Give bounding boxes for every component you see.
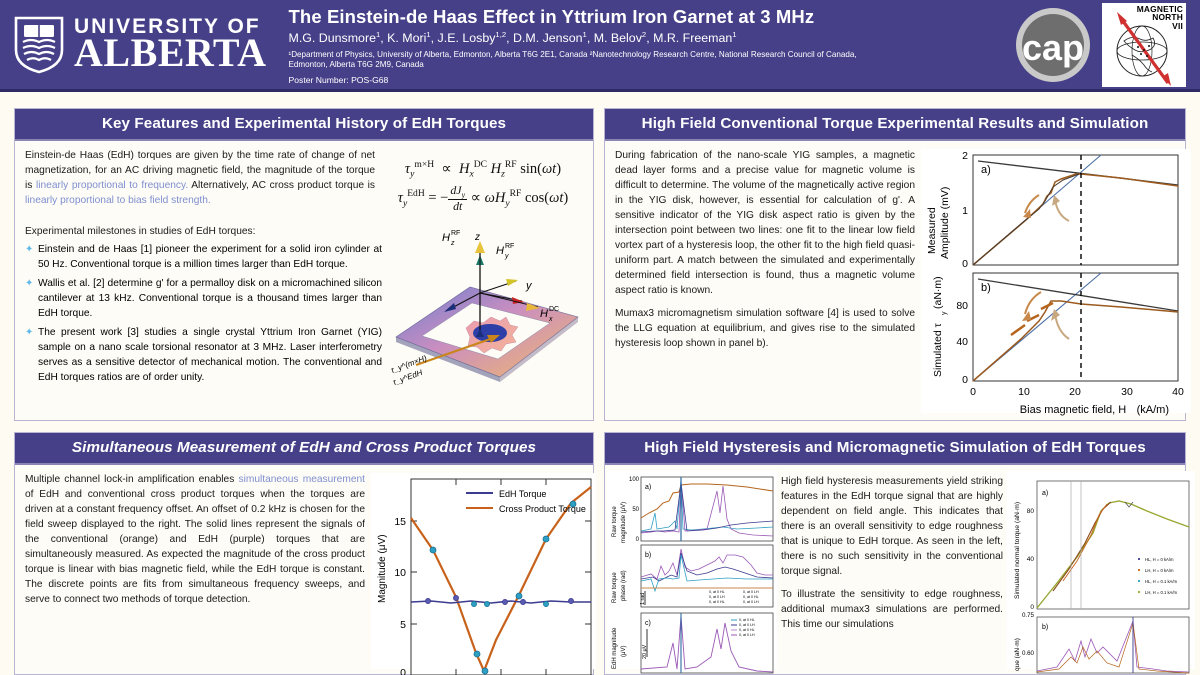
- right-ytick-075: 0.75: [1022, 612, 1035, 619]
- high-field-text: During fabrication of the nano-scale YIG…: [615, 149, 915, 413]
- ytick-0: 0: [400, 667, 406, 675]
- ylabel-b: Simulated τ: [932, 322, 944, 377]
- legend-edh-torque: EdH Torque: [499, 489, 546, 499]
- diamond-bullet-icon: ✦: [25, 277, 33, 292]
- milestone-post: times larger than EdH torque.: [212, 259, 348, 270]
- label-z-axis: z: [474, 232, 480, 243]
- simultaneous-highlight: simultaneous measurement: [239, 474, 366, 485]
- hysteresis-text: High field hysteresis measurements yield…: [781, 471, 1003, 669]
- scalebar-1rad: 1 rad: [640, 593, 646, 605]
- ylabel-a-line2: Amplitude (mV): [939, 187, 951, 259]
- ytick-a-1: 1: [962, 205, 968, 217]
- intro-highlight-1: linearly proportional to frequency.: [36, 180, 188, 191]
- list-item: ✦ Wallis et al. [2] determine g' for a p…: [25, 277, 382, 322]
- diamond-bullet-icon: ✦: [25, 326, 33, 341]
- panel-hysteresis-title: High Field Hysteresis and Micromagnetic …: [605, 433, 1185, 465]
- svg-text:DC: DC: [549, 306, 559, 313]
- subpanel-b-label: b): [981, 282, 991, 294]
- panel-key-features: Key Features and Experimental History of…: [14, 108, 594, 421]
- milestone-highlight: unity: [181, 372, 202, 383]
- high-field-chart: a) 2 1 0 Measured Amplitude (mV): [921, 149, 1191, 421]
- poster-number: Poster Number: POS-G68: [289, 75, 1004, 85]
- hysteresis-left-chart: a) 100 50 0 Raw torque magnitude (μV) b)…: [607, 471, 777, 675]
- legend-hl-0: HL, H = 0 kA/m: [1145, 557, 1174, 562]
- simultaneous-part2: of EdH and conventional cross product to…: [25, 489, 365, 605]
- left-subpanel-b-label: b): [645, 552, 651, 559]
- right-ytick-0: 0: [1030, 604, 1034, 611]
- right-subpanel-a-label: a): [1042, 490, 1048, 497]
- intro-part2: Alternatively, AC cross product torque i…: [188, 180, 375, 191]
- label-hx-dc: H: [540, 308, 548, 320]
- svg-text:0, at 0 HL: 0, at 0 HL: [739, 618, 755, 622]
- shield-icon: [14, 16, 64, 74]
- device-schematic-diagram: H z RF H y RF y z H x DC τ_y^(m×H) τ_y^E…: [388, 225, 583, 405]
- ytick-a-0: 0: [962, 258, 968, 270]
- right-ylabel-a: Simulated normal torque (aN·m): [1014, 502, 1021, 599]
- left-subpanel-c-label: c): [645, 620, 651, 627]
- header-divider: [0, 89, 1200, 92]
- svg-text:0, at 0 LH: 0, at 0 LH: [743, 590, 759, 594]
- title-block: The Einstein-de Haas Effect in Yttrium I…: [275, 0, 1014, 89]
- high-field-paragraph-1: During fabrication of the nano-scale YIG…: [615, 149, 915, 299]
- hysteresis-left-figure: a) 100 50 0 Raw torque magnitude (μV) b)…: [607, 471, 777, 669]
- panel-key-features-title: Key Features and Experimental History of…: [15, 109, 593, 141]
- high-field-paragraph-2: Mumax3 micromagnetism simulation softwar…: [615, 307, 915, 352]
- poster-header: UNIVERSITY OF ALBERTA The Einstein-de Ha…: [0, 0, 1200, 89]
- university-line2: ALBERTA: [74, 34, 267, 72]
- xtick-30: 30: [1121, 386, 1133, 398]
- left-ylabel-a2: magnitude (μV): [621, 502, 627, 543]
- simultaneous-part1: Multiple channel lock-in amplification e…: [25, 474, 239, 485]
- header-logos: cap MAGNETIC NORTH: [1014, 0, 1200, 89]
- panel-high-field-title: High Field Conventional Torque Experimen…: [605, 109, 1185, 141]
- svg-text:0, at 0 LH: 0, at 0 LH: [739, 633, 755, 637]
- university-wordmark: UNIVERSITY OF ALBERTA: [74, 17, 267, 73]
- simultaneous-chart: Magnitude (μV) 15 10 5 0: [371, 473, 596, 675]
- key-features-milestones-block: Experimental milestones in studies of Ed…: [25, 225, 382, 405]
- svg-text:RF: RF: [451, 230, 460, 237]
- ytick-a-2: 2: [962, 150, 968, 162]
- simultaneous-figure: Magnitude (μV) 15 10 5 0: [371, 473, 596, 669]
- xtick-20: 20: [1069, 386, 1081, 398]
- xtick-0: 0: [970, 386, 976, 398]
- svg-text:y: y: [941, 311, 948, 315]
- right-ylabel-b: que (aN·m): [1014, 638, 1021, 671]
- svg-text:0, at 0 LH: 0, at 0 LH: [709, 595, 725, 599]
- legend-hl-01: HL, H = 0.1 kA/m: [1145, 579, 1178, 584]
- left-ylabel-c1: EdH magnitude: [612, 627, 618, 669]
- left-ylabel-a1: Raw torque: [612, 506, 618, 537]
- milestone-highlight: thousand: [257, 293, 299, 304]
- right-subpanel-b-label: b): [1042, 624, 1048, 631]
- poster-root: UNIVERSITY OF ALBERTA The Einstein-de Ha…: [0, 0, 1200, 675]
- left-ylabel-b1: Raw torque: [612, 572, 618, 603]
- magnetic-north-text: MAGNETIC NORTH VII: [1137, 5, 1183, 31]
- ytick-15: 15: [394, 516, 406, 528]
- svg-text:0, at 0 HL: 0, at 0 HL: [739, 628, 755, 632]
- cap-logo-icon: cap: [1014, 6, 1092, 84]
- magnetic-north-logo: MAGNETIC NORTH VII: [1102, 3, 1186, 87]
- hysteresis-paragraph-2: To illustrate the sensitivity to edge ro…: [781, 588, 1003, 633]
- left-ylabel-b2: phase (rad): [621, 570, 627, 601]
- ytick-5: 5: [400, 619, 406, 631]
- milestone-pre: The present work [3] studies a single cr…: [38, 327, 382, 383]
- milestones-list: ✦ Einstein and de Haas [1] pioneer the e…: [25, 243, 382, 386]
- cap-logo-text: cap: [1022, 27, 1084, 68]
- subpanel-a-label: a): [981, 164, 991, 176]
- intro-highlight-2: linearly proportional to bias field stre…: [25, 195, 211, 206]
- poster-title: The Einstein-de Haas Effect in Yttrium I…: [289, 6, 1004, 27]
- ytick-b-0: 0: [962, 374, 968, 386]
- svg-text:x: x: [548, 316, 553, 323]
- ylabel-magnitude: Magnitude (μV): [377, 534, 388, 603]
- torsional-resonator-3d-icon: H z RF H y RF y z H x DC τ_y^(m×H) τ_y^E…: [388, 225, 583, 400]
- mn-line3: VII: [1137, 22, 1183, 31]
- simultaneous-text: Multiple channel lock-in amplification e…: [25, 473, 365, 669]
- panel-simultaneous: Simultaneous Measurement of EdH and Cros…: [14, 432, 594, 675]
- svg-text:0, at 0 LH: 0, at 0 LH: [739, 623, 755, 627]
- panel-simultaneous-title: Simultaneous Measurement of EdH and Cros…: [15, 433, 593, 465]
- university-logo: UNIVERSITY OF ALBERTA: [0, 0, 275, 89]
- legend-lh-0: LH, H = 0 kA/m: [1145, 568, 1174, 573]
- list-item: ✦ Einstein and de Haas [1] pioneer the e…: [25, 243, 382, 273]
- hysteresis-right-figure: a) 80 40 0 Simulated normal torque (aN·m…: [1007, 471, 1195, 669]
- key-features-equations: τym×H ∝ HxDC HzRF sin(ωt) τyEdH = −dJydt…: [383, 149, 583, 217]
- hysteresis-right-chart: a) 80 40 0 Simulated normal torque (aN·m…: [1007, 471, 1195, 675]
- milestones-heading: Experimental milestones in studies of Ed…: [25, 225, 382, 240]
- right-ytick-80: 80: [1027, 508, 1035, 515]
- xtick-10: 10: [1018, 386, 1030, 398]
- key-features-intro: Einstein-de Haas (EdH) torques are given…: [25, 149, 375, 217]
- scalebar-20uv: 20 μV: [642, 644, 648, 659]
- right-ytick-060: 0.60: [1022, 650, 1035, 657]
- label-y-axis: y: [525, 280, 533, 292]
- legend-cross-product-torque: Cross Product Torque: [499, 504, 586, 514]
- xlabel-high-field: Bias magnetic field, H: [1020, 404, 1126, 416]
- diamond-bullet-icon: ✦: [25, 243, 33, 258]
- svg-text:50: 50: [632, 507, 639, 513]
- svg-text:0, at 0 LH: 0, at 0 LH: [743, 600, 759, 604]
- svg-text:0, at 0 HL: 0, at 0 HL: [743, 595, 759, 599]
- panel-high-field: High Field Conventional Torque Experimen…: [604, 108, 1186, 421]
- svg-text:100: 100: [629, 477, 640, 483]
- svg-text:y: y: [504, 253, 509, 260]
- ytick-10: 10: [394, 567, 406, 579]
- svg-text:0, at 0 HL: 0, at 0 HL: [709, 590, 725, 594]
- ylabel-a-line1: Measured: [926, 207, 938, 254]
- xtick-40: 40: [1172, 386, 1184, 398]
- equation-cross-product: τym×H ∝ HxDC HzRF sin(ωt): [383, 159, 583, 180]
- svg-text:RF: RF: [505, 243, 514, 250]
- poster-affiliation: ¹Department of Physics, University of Al…: [289, 50, 889, 70]
- svg-text:0: 0: [636, 537, 640, 543]
- high-field-figure: a) 2 1 0 Measured Amplitude (mV): [921, 149, 1191, 413]
- legend-lh-01: LH, H = 0.1 kA/m: [1145, 590, 1178, 595]
- milestone-highlight: million: [183, 259, 212, 270]
- left-ylabel-c2: (μV): [621, 646, 627, 657]
- label-hz-rf: H: [442, 232, 450, 244]
- left-subpanel-a-label: a): [645, 484, 651, 491]
- right-ytick-40: 40: [1027, 556, 1035, 563]
- svg-text:0, at 0 HL: 0, at 0 HL: [709, 600, 725, 604]
- milestone-post: .: [201, 372, 204, 383]
- panel-hysteresis: High Field Hysteresis and Micromagnetic …: [604, 432, 1186, 675]
- equation-edh: τyEdH = −dJydt ∝ ωHyRF cos(ωt): [383, 184, 583, 213]
- svg-text:(kA/m): (kA/m): [1137, 404, 1169, 416]
- label-hy-rf: H: [496, 245, 504, 257]
- ytick-b-40: 40: [956, 336, 968, 348]
- svg-text:(aN·m): (aN·m): [932, 276, 944, 309]
- ytick-b-80: 80: [956, 300, 968, 312]
- svg-text:z: z: [450, 240, 455, 247]
- list-item: ✦ The present work [3] studies a single …: [25, 326, 382, 386]
- hysteresis-paragraph-1: High field hysteresis measurements yield…: [781, 475, 1003, 580]
- poster-authors: M.G. Dunsmore1, K. Mori1, J.E. Losby1,2,…: [289, 30, 1004, 46]
